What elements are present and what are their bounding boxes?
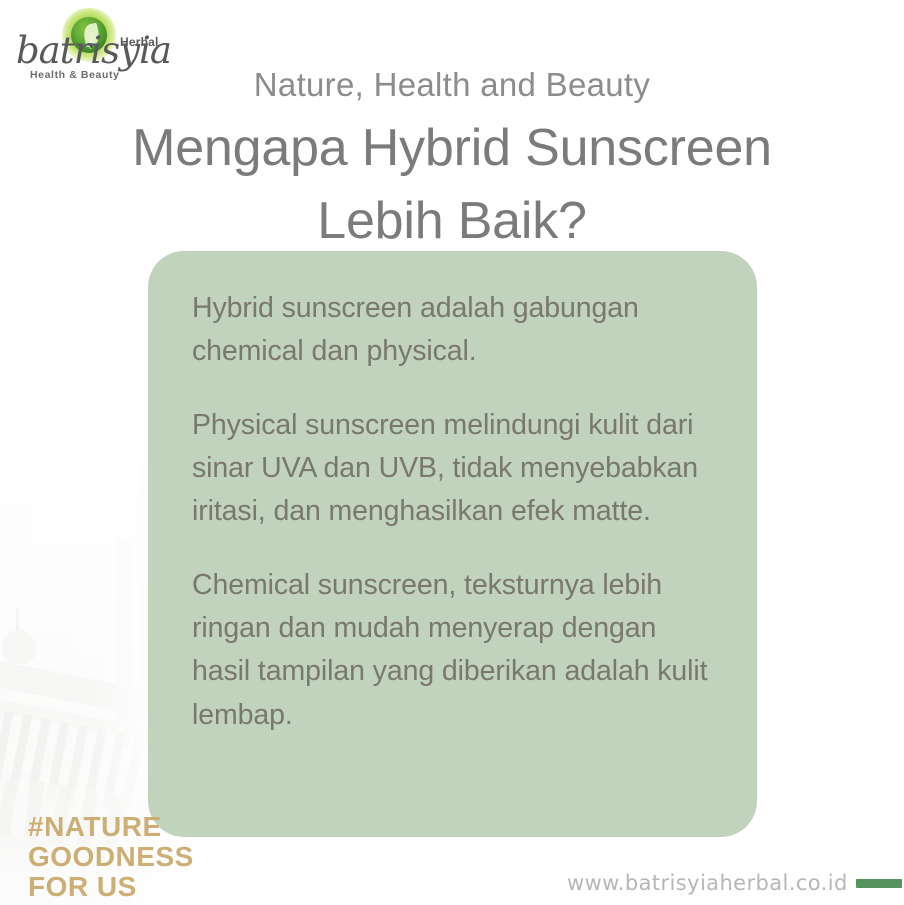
footer-website-url[interactable]: www.batrisyiaherbal.co.id [567,871,848,895]
footer-accent-bar [856,879,902,888]
content-card: Hybrid sunscreen adalah gabungan chemica… [148,251,757,837]
card-paragraph: Physical sunscreen melindungi kulit dari… [192,404,713,534]
page-title-line-1: Mengapa Hybrid Sunscreen [0,112,904,185]
hashtag-line-3: FOR US [28,872,194,902]
hashtag-watermark: #NATURE GOODNESS FOR US [28,812,194,903]
hashtag-line-1: #NATURE [28,812,194,842]
page-title: Mengapa Hybrid Sunscreen Lebih Baik? [0,112,904,258]
eyebrow-text: Nature, Health and Beauty [0,66,904,104]
hashtag-line-2: GOODNESS [28,842,194,872]
brand-sub-label: Herbal [120,35,159,49]
card-paragraph: Chemical sunscreen, teksturnya lebih rin… [192,564,713,737]
page-title-line-2: Lebih Baik? [0,185,904,258]
poster-canvas: batrisyia Herbal Health & Beauty Nature,… [0,0,904,905]
card-paragraph: Hybrid sunscreen adalah gabungan chemica… [192,287,713,374]
